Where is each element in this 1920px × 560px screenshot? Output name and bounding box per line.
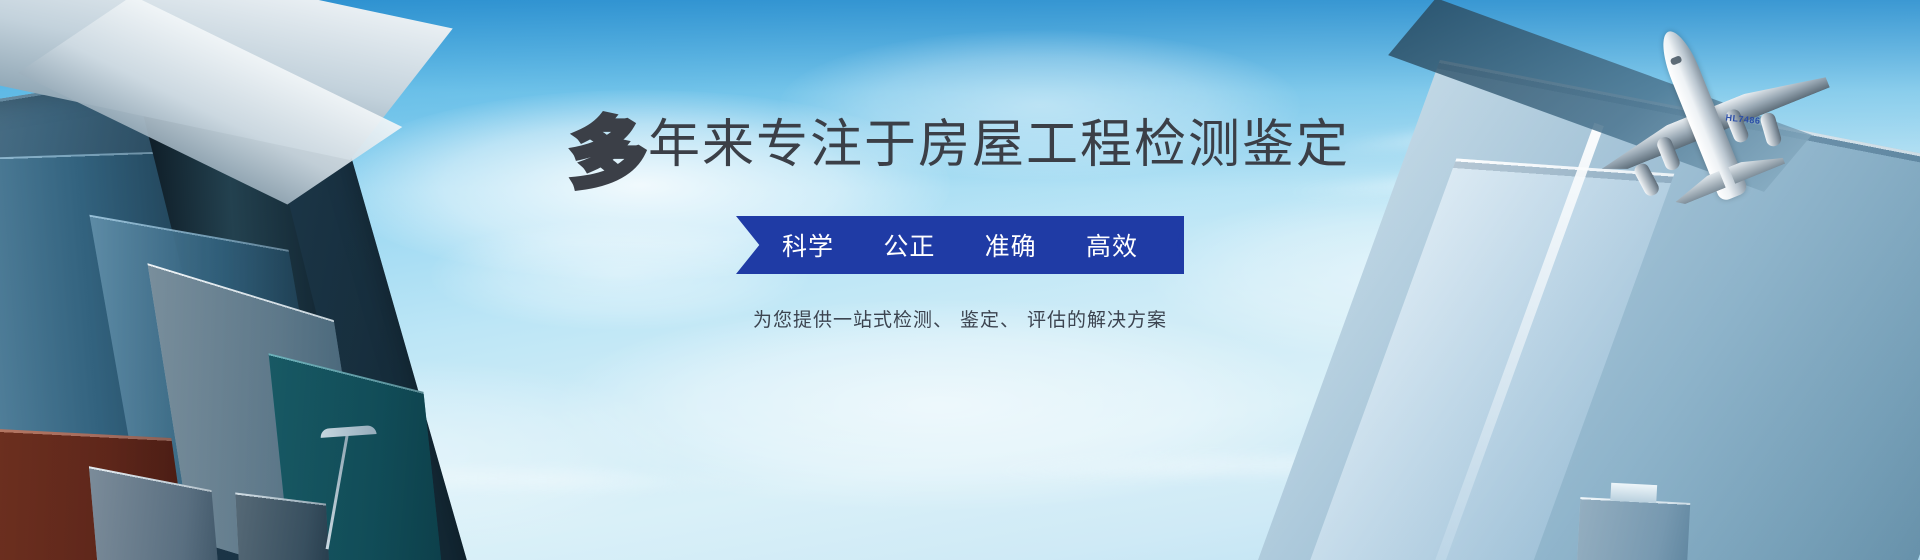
headline-text: 年来专注于房屋工程检测鉴定 bbox=[648, 112, 1350, 178]
ribbon-item-zhunque: 准确 bbox=[985, 227, 1037, 263]
banner-content: 多年来专注于房屋工程检测鉴定 科学 公正 准确 高效 为您提供一站式检测、 鉴定… bbox=[0, 0, 1920, 560]
values-ribbon: 科学 公正 准确 高效 bbox=[736, 216, 1184, 274]
ribbon-item-kexue: 科学 bbox=[782, 227, 834, 263]
banner-subtitle: 为您提供一站式检测、 鉴定、 评估的解决方案 bbox=[0, 305, 1920, 332]
values-ribbon-container: 科学 公正 准确 高效 bbox=[0, 216, 1920, 274]
page-title: 多年来专注于房屋工程检测鉴定 bbox=[0, 112, 1920, 192]
ribbon-item-gaoxiao: 高效 bbox=[1086, 227, 1138, 263]
headline-logo-character: 多 bbox=[570, 116, 646, 192]
ribbon-item-gongzheng: 公正 bbox=[883, 227, 935, 263]
hero-banner: HL7486 多年来专注于房屋工程检测鉴定 科学 公正 准确 高效 为您提供一站… bbox=[0, 0, 1920, 560]
ribbon-right-notch bbox=[1158, 216, 1184, 274]
